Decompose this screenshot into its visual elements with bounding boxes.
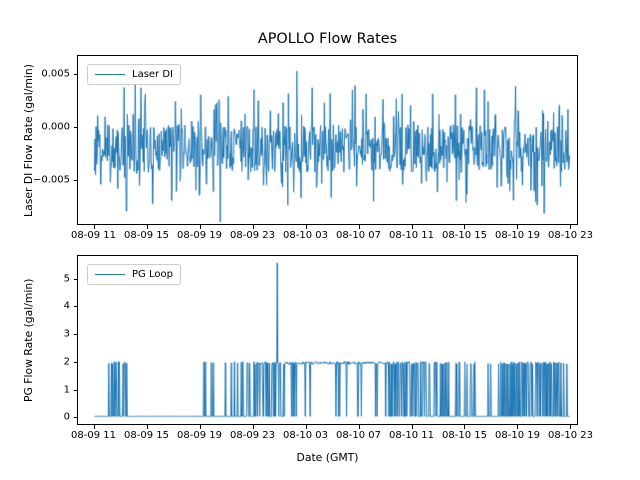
x-tick-mark (253, 425, 254, 429)
y-tick-label: 5 (0, 273, 70, 284)
x-tick-label: 08-09 15 (124, 430, 169, 441)
x-tick-label: 08-10 11 (389, 430, 434, 441)
y-tick-label: 3 (0, 329, 70, 340)
x-tick-mark (147, 425, 148, 429)
x-tick-mark (359, 225, 360, 229)
x-tick-mark (359, 425, 360, 429)
x-tick-mark (306, 225, 307, 229)
y-axis-label-top: Laser DI Flow Rate (gal/min) (22, 64, 35, 217)
y-tick-mark (74, 417, 78, 418)
figure-title: APOLLO Flow Rates (77, 31, 578, 47)
x-tick-mark (306, 425, 307, 429)
y-tick-mark (74, 362, 78, 363)
x-tick-mark (147, 225, 148, 229)
x-tick-label: 08-10 03 (283, 430, 328, 441)
x-tick-label: 08-10 23 (548, 430, 593, 441)
legend-laser-di: Laser DI (87, 64, 181, 85)
x-tick-mark (517, 425, 518, 429)
x-tick-label: 08-09 23 (230, 430, 275, 441)
legend-label-laser-di: Laser DI (132, 69, 173, 80)
x-tick-label: 08-10 11 (389, 230, 434, 241)
x-tick-label: 08-10 07 (336, 230, 381, 241)
x-tick-label: 08-09 23 (230, 230, 275, 241)
legend-line-icon (95, 74, 125, 75)
x-tick-label: 08-09 15 (124, 230, 169, 241)
y-tick-mark (74, 334, 78, 335)
x-tick-mark (200, 225, 201, 229)
x-tick-mark (517, 225, 518, 229)
x-tick-label: 08-10 19 (495, 430, 540, 441)
y-tick-label: −0.005 (0, 175, 70, 186)
legend-line-icon (95, 274, 125, 275)
y-tick-label: 0.005 (0, 69, 70, 80)
x-tick-mark (570, 225, 571, 229)
y-tick-mark (74, 279, 78, 280)
x-tick-label: 08-09 11 (71, 430, 116, 441)
y-tick-label: 0 (0, 412, 70, 423)
x-tick-label: 08-10 03 (283, 230, 328, 241)
y-tick-label: 0.000 (0, 122, 70, 133)
y-tick-mark (74, 306, 78, 307)
y-tick-label: 1 (0, 384, 70, 395)
y-tick-label: 4 (0, 301, 70, 312)
x-tick-mark (412, 225, 413, 229)
legend-label-pg-loop: PG Loop (132, 269, 173, 280)
x-tick-label: 08-10 15 (442, 230, 487, 241)
x-tick-mark (464, 225, 465, 229)
x-tick-label: 08-10 19 (495, 230, 540, 241)
x-tick-mark (412, 425, 413, 429)
x-tick-label: 08-09 19 (177, 230, 222, 241)
x-tick-mark (570, 425, 571, 429)
y-tick-mark (74, 127, 78, 128)
x-tick-label: 08-10 07 (336, 430, 381, 441)
x-axis-label: Date (GMT) (77, 451, 578, 464)
y-tick-mark (74, 74, 78, 75)
x-tick-label: 08-09 19 (177, 430, 222, 441)
x-tick-mark (94, 425, 95, 429)
x-tick-label: 08-09 11 (71, 230, 116, 241)
y-tick-label: 2 (0, 356, 70, 367)
y-tick-mark (74, 390, 78, 391)
y-tick-mark (74, 180, 78, 181)
matplotlib-figure: APOLLO Flow Rates Laser DI Flow Rate (ga… (0, 0, 640, 480)
x-tick-mark (200, 425, 201, 429)
x-tick-label: 08-10 23 (548, 230, 593, 241)
legend-pg-loop: PG Loop (87, 264, 181, 285)
x-tick-label: 08-10 15 (442, 430, 487, 441)
x-tick-mark (94, 225, 95, 229)
x-tick-mark (253, 225, 254, 229)
x-tick-mark (464, 425, 465, 429)
